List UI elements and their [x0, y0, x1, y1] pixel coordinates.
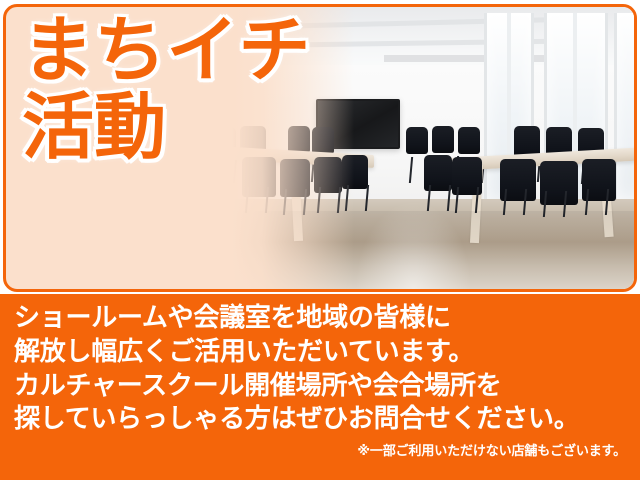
headline-line-1: まちイチ — [22, 15, 311, 86]
chair — [424, 155, 452, 191]
chair — [500, 159, 536, 201]
chair — [540, 161, 578, 205]
description-line: 探していらっしゃる方はぜひお問合せください。 — [14, 403, 640, 437]
chair — [342, 155, 368, 189]
chair — [242, 157, 276, 197]
description-line: 解放し幅広くご活用いただいています。 — [14, 336, 640, 370]
chair — [314, 157, 342, 193]
chair — [312, 127, 334, 154]
description-band: ショールームや会議室を地域の皆様に 解放し幅広くご活用いただいています。 カルチ… — [0, 294, 640, 480]
description-line: カルチャースクール開催場所や会合場所を — [14, 370, 640, 404]
poster-root: まちイチ 活動 ショールームや会議室を地域の皆様に 解放し幅広くご活用いただいて… — [0, 0, 640, 480]
chair — [432, 126, 454, 153]
chair — [280, 159, 310, 197]
description-text: ショールームや会議室を地域の皆様に 解放し幅広くご活用いただいています。 カルチ… — [0, 294, 640, 437]
hero-panel: まちイチ 活動 — [3, 4, 637, 292]
chair — [582, 159, 616, 201]
window — [614, 13, 634, 199]
disclaimer-note: ※一部ご利用いただけない店舗もございます。 — [0, 440, 640, 459]
chair — [458, 127, 480, 154]
chair — [452, 157, 482, 195]
headline-line-2: 活動 — [22, 92, 311, 163]
chair — [406, 127, 428, 154]
headline: まちイチ 活動 — [22, 15, 311, 162]
description-line: ショールームや会議室を地域の皆様に — [14, 302, 640, 336]
floor-reflection — [184, 211, 634, 289]
